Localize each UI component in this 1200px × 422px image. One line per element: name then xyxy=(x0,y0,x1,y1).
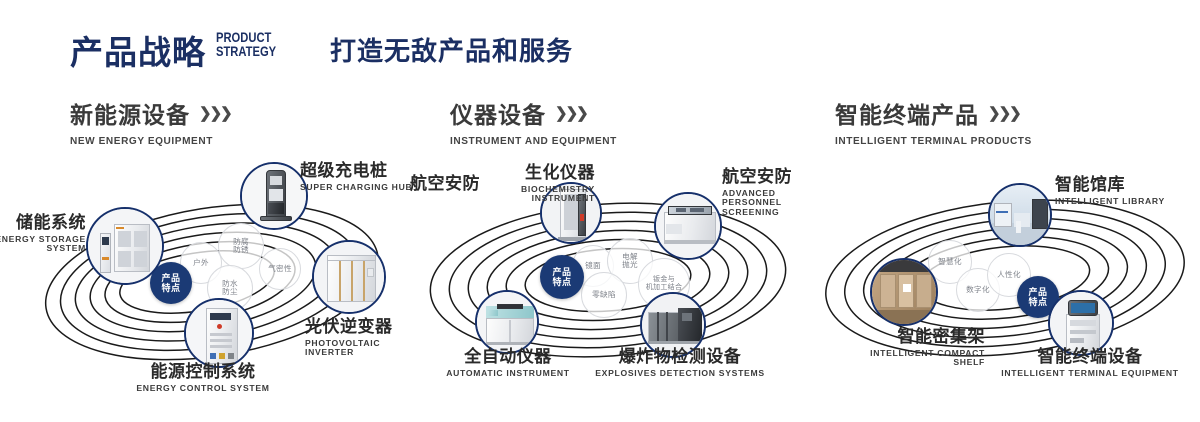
core-bubble-product-features: 产品特点 xyxy=(540,255,584,299)
page-header: 产品战略 PRODUCT STRATEGY 打造无敌产品和服务 xyxy=(0,0,1200,88)
section-heading-new-energy: 新能源设备 ❯❯❯ NEW ENERGY EQUIPMENT xyxy=(70,96,231,147)
feature-bubble-airtight: 气密性 xyxy=(259,248,301,290)
section-title-text: 新能源设备 xyxy=(70,96,190,130)
section-title-text: 智能终端产品 xyxy=(835,96,979,130)
caption-energy-storage-system: 储能系统 ENERGY STORAGE SYSTEM xyxy=(0,214,86,254)
section-title-cn-new-energy: 新能源设备 ❯❯❯ xyxy=(70,96,231,130)
caption-explosives-detection-systems: 爆炸物检测设备 EXPLOSIVES DETECTION SYSTEMS xyxy=(580,348,780,378)
node-automatic-instrument[interactable] xyxy=(475,290,539,354)
chevron-right-icon: ❯❯❯ xyxy=(988,104,1020,122)
feature-bubble-zero-defect: 零缺陷 xyxy=(581,272,627,318)
caption-energy-control-system: 能源控制系统 ENERGY CONTROL SYSTEM xyxy=(88,363,318,393)
node-super-charging-hub[interactable] xyxy=(240,162,308,230)
node-energy-control-system[interactable] xyxy=(184,298,254,368)
page-subtitle: 打造无敌产品和服务 xyxy=(330,31,573,68)
node-energy-storage-system[interactable] xyxy=(86,207,164,285)
section-title-cn-intelligent: 智能终端产品 ❯❯❯ xyxy=(835,96,1040,130)
page-title-cn: 产品战略 xyxy=(70,26,206,74)
section-title-cn-instrument: 仪器设备 ❯❯❯ xyxy=(450,96,624,130)
caption-intelligent-terminal-equipment: 智能终端设备 INTELLIGENT TERMINAL EQUIPMENT xyxy=(990,348,1190,378)
feature-bubble-anticorrosion: 防腐 防锈 xyxy=(218,223,264,269)
diagram-instrument: 镜面 电解 抛光 零缺陷 钣金与 机加工结合 产品特点 生化仪器 BIOCHEM… xyxy=(400,150,820,410)
node-intelligent-library[interactable] xyxy=(988,183,1052,247)
page-title-en: PRODUCT STRATEGY xyxy=(216,30,276,58)
chevron-right-icon: ❯❯❯ xyxy=(199,104,231,122)
caption-aviation-security-left: 航空安防 xyxy=(410,175,480,194)
diagram-new-energy: 户外 防腐 防锈 防水 防尘 气密性 产品特点 储能系统 ENERGY STOR… xyxy=(0,150,420,410)
diagram-intelligent-terminal: 智慧化 数字化 人性化 产品特点 智能馆库 INTELLIGENT LIBRAR… xyxy=(800,150,1200,410)
chevron-right-icon: ❯❯❯ xyxy=(555,104,587,122)
section-title-text: 仪器设备 xyxy=(450,96,546,130)
caption-intelligent-compact-shelf: 智能密集架 INTELLIGENT COMPACT SHELF xyxy=(790,328,985,368)
caption-automatic-instrument: 全自动仪器 AUTOMATIC INSTRUMENT xyxy=(418,348,598,378)
node-photovoltaic-inverter[interactable] xyxy=(312,240,386,314)
caption-super-charging-hub: 超级充电桩 SUPER CHARGING HUB xyxy=(300,162,412,192)
section-title-en-instrument: INSTRUMENT AND EQUIPMENT xyxy=(450,135,617,147)
node-intelligent-compact-shelf[interactable] xyxy=(870,258,938,326)
section-heading-instrument: 仪器设备 ❯❯❯ INSTRUMENT AND EQUIPMENT xyxy=(450,96,624,147)
section-heading-intelligent: 智能终端产品 ❯❯❯ INTELLIGENT TERMINAL PRODUCTS xyxy=(835,96,1040,147)
node-advanced-personnel-screening[interactable] xyxy=(654,192,722,260)
section-title-en-new-energy: NEW ENERGY EQUIPMENT xyxy=(70,135,224,147)
caption-intelligent-library: 智能馆库 INTELLIGENT LIBRARY xyxy=(1055,176,1165,206)
section-title-en-intelligent: INTELLIGENT TERMINAL PRODUCTS xyxy=(835,135,1032,147)
